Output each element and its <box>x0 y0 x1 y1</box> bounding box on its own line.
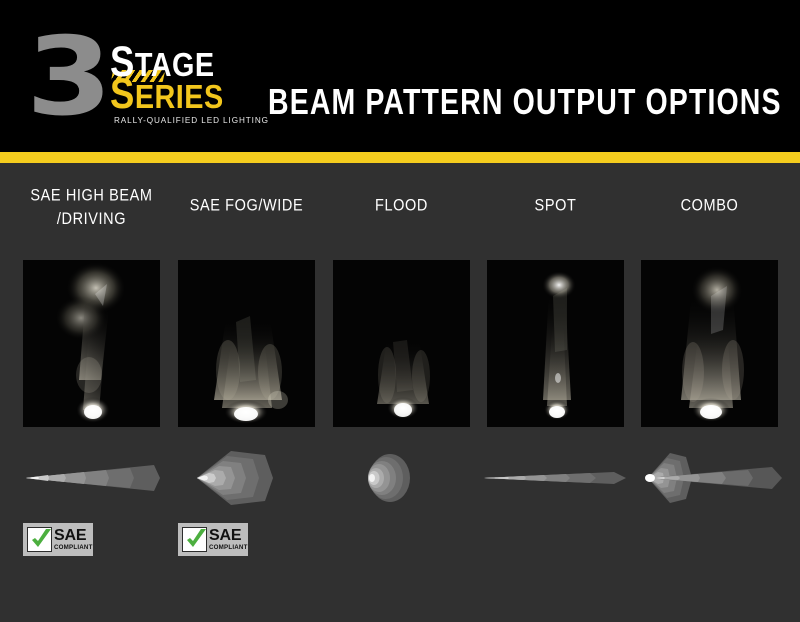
beam-column-flood: FLOOD <box>324 163 479 622</box>
sae-compliant-badge: SAE COMPLIANT <box>178 523 248 556</box>
sae-badge-main: SAE <box>54 528 93 544</box>
beam-diagram-flood <box>324 445 479 511</box>
beam-column-sae-high-beam-driving: SAE HIGH BEAM /DRIVING <box>14 163 169 622</box>
beam-column-sae-fog-wide: SAE FOG/WIDE <box>169 163 324 622</box>
beam-column-spot: SPOT <box>478 163 633 622</box>
beam-diagram-wide <box>169 445 344 511</box>
beam-diagram-spot <box>478 445 633 511</box>
yellow-divider-bar <box>0 152 800 163</box>
beam-label-line1: FLOOD <box>375 197 428 215</box>
beam-photo-sae-high-beam-driving <box>23 260 160 427</box>
green-check-icon <box>184 528 208 552</box>
logo-numeral-3: 3 <box>26 28 108 128</box>
header-bar: 3 STAGE SERIES RALLY-QUALIFIED LED LIGHT… <box>0 0 800 152</box>
beam-label-sae-high-beam-driving: SAE HIGH BEAM /DRIVING <box>14 185 169 232</box>
beam-label-combo: COMBO <box>632 195 787 219</box>
beam-diagram-combo <box>622 445 797 511</box>
logo-tagline: RALLY-QUALIFIED LED LIGHTING <box>114 116 269 125</box>
logo-word-series: SERIES <box>110 78 224 115</box>
beam-photo-spot <box>487 260 624 427</box>
sae-badge-main: SAE <box>209 528 248 544</box>
sae-badge-sub: COMPLIANT <box>54 545 93 551</box>
beam-column-combo: COMBO <box>632 163 787 622</box>
diode-dynamics-stage-series-logo: 3 STAGE SERIES RALLY-QUALIFIED LED LIGHT… <box>26 28 236 128</box>
logo-series-cap: S <box>110 71 135 118</box>
sae-badge-text: SAE COMPLIANT <box>209 528 248 551</box>
beam-photo-flood <box>333 260 470 427</box>
sae-badge-text: SAE COMPLIANT <box>54 528 93 551</box>
beam-label-line2: /DRIVING <box>57 211 126 229</box>
beam-label-line1: SAE HIGH BEAM <box>30 187 152 205</box>
sae-checkbox <box>182 527 207 552</box>
beam-pattern-infographic: 3 STAGE SERIES RALLY-QUALIFIED LED LIGHT… <box>0 0 800 622</box>
beam-label-flood: FLOOD <box>324 195 479 219</box>
beam-label-spot: SPOT <box>478 195 633 219</box>
sae-checkbox <box>27 527 52 552</box>
sae-compliant-badge: SAE COMPLIANT <box>23 523 93 556</box>
page-title: BEAM PATTERN OUTPUT OPTIONS <box>268 81 782 123</box>
beam-options-grid: SAE HIGH BEAM /DRIVING <box>0 163 800 622</box>
logo-series-rest: ERIES <box>135 79 224 116</box>
beam-photo-sae-fog-wide <box>178 260 315 427</box>
green-check-icon <box>29 528 53 552</box>
sae-badge-sub: COMPLIANT <box>209 545 248 551</box>
beam-label-line1: SPOT <box>535 197 577 215</box>
beam-label-line1: COMBO <box>681 197 739 215</box>
beam-diagram-driving <box>14 445 169 511</box>
beam-label-line1: SAE FOG/WIDE <box>190 197 304 215</box>
beam-photo-combo <box>641 260 778 427</box>
beam-label-sae-fog-wide: SAE FOG/WIDE <box>169 195 324 219</box>
